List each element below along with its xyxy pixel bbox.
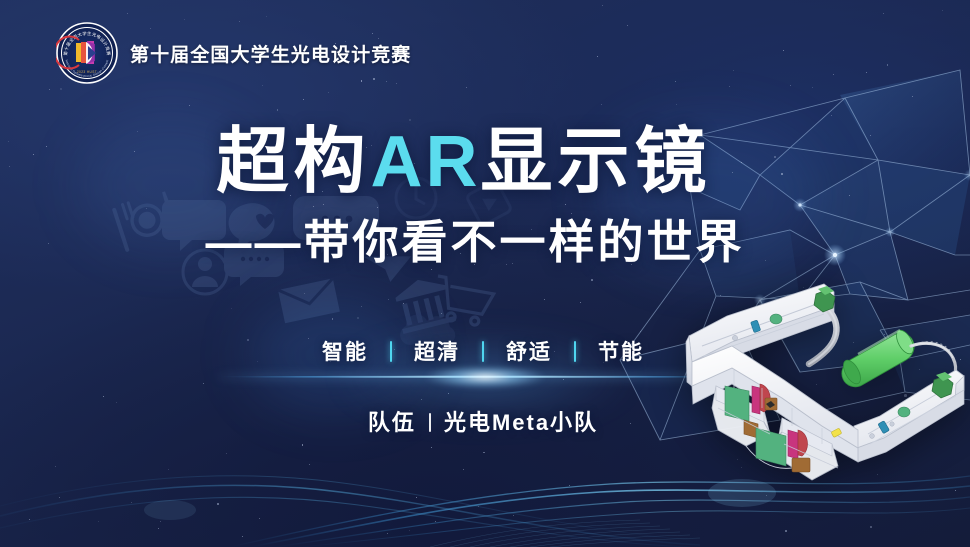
star-dot: [774, 156, 776, 158]
star-dot: [371, 145, 372, 146]
star-dot: [262, 85, 263, 86]
star-dot: [309, 464, 310, 465]
star-dot: [357, 317, 360, 320]
star-dot: [602, 5, 603, 6]
star-dot: [281, 186, 282, 187]
bank-icon: [392, 273, 456, 334]
header-title: 第十届全国大学生光电设计竞赛: [130, 40, 411, 67]
main-title-accent-ar: AR: [371, 122, 481, 202]
star-dot: [328, 92, 329, 93]
chat-bubble-dots-icon: [224, 243, 284, 286]
heart-chat-icon: [229, 203, 275, 251]
clock-icon: [396, 178, 436, 218]
star-dot: [361, 306, 362, 307]
star-dot: [675, 81, 676, 82]
star-dot: [580, 302, 581, 303]
star-dot: [134, 151, 135, 152]
star-dot: [463, 469, 464, 470]
star-dot: [790, 85, 791, 86]
star-dot: [55, 466, 56, 467]
envelope-icon: [278, 278, 340, 323]
star-dot: [569, 485, 570, 486]
star-dot: [435, 521, 436, 522]
star-dot: [591, 279, 593, 281]
star-dot: [483, 452, 485, 454]
star-dot: [729, 86, 730, 87]
star-dot: [168, 469, 169, 470]
star-dot: [431, 269, 432, 270]
star-dot: [46, 146, 47, 147]
star-dot: [231, 308, 232, 309]
star-dot: [409, 530, 410, 531]
star-dot: [597, 56, 599, 58]
star-dot: [512, 263, 513, 264]
star-dot: [831, 115, 832, 116]
star-dot: [732, 172, 733, 173]
star-dot: [266, 16, 268, 18]
feature-tag-0[interactable]: 智能: [300, 336, 390, 366]
star-dot: [48, 243, 49, 244]
star-dot: [116, 402, 117, 403]
feature-tag-2[interactable]: 舒适: [484, 336, 574, 366]
glasses-front-frame: [692, 346, 858, 480]
star-dot: [414, 163, 415, 164]
ar-glasses-illustration: [672, 258, 970, 498]
star-dot: [98, 521, 99, 522]
star-dot: [785, 530, 787, 532]
main-title-suffix: 显示镜: [481, 122, 712, 202]
star-dot: [849, 195, 850, 196]
star-dot: [733, 70, 734, 71]
star-dot: [203, 383, 204, 384]
star-dot: [313, 206, 314, 207]
star-dot: [137, 131, 138, 132]
star-dot: [257, 361, 258, 362]
paper-plane-icon: [359, 245, 411, 285]
star-dot: [387, 533, 388, 534]
star-dot: [416, 497, 417, 498]
star-dot: [421, 399, 422, 400]
star-dot: [565, 204, 566, 205]
star-dot: [323, 204, 324, 205]
star-dot: [741, 162, 742, 163]
star-dot: [33, 154, 34, 155]
star-dot: [544, 299, 545, 300]
star-dot: [466, 87, 467, 88]
star-dot: [127, 13, 128, 14]
star-dot: [866, 72, 867, 73]
star-dot: [259, 518, 260, 519]
star-dot: [448, 393, 449, 394]
star-dot: [247, 339, 249, 341]
star-dot: [9, 166, 10, 167]
poster-canvas: 第十届全国大学生光电设计竞赛 National Optoelectronic D…: [0, 0, 970, 547]
main-title: 超构AR显示镜: [0, 126, 949, 198]
star-dot: [630, 423, 631, 424]
star-dot: [912, 96, 913, 97]
star-dot: [571, 213, 572, 214]
team-label: 队伍: [368, 410, 416, 435]
glasses-battery-cylinder: [840, 327, 917, 386]
star-dot: [601, 104, 602, 105]
star-dot: [781, 173, 783, 175]
star-dot: [676, 104, 677, 105]
star-dot: [146, 208, 147, 209]
star-dot: [60, 88, 63, 91]
star-dot: [388, 299, 389, 300]
star-dot: [366, 147, 367, 148]
star-dot: [339, 237, 340, 238]
star-dot: [366, 236, 367, 237]
svg-text:2023 HUST: 2023 HUST: [77, 70, 97, 74]
star-dot: [631, 264, 632, 265]
star-dot: [563, 379, 564, 380]
team-separator: [429, 413, 431, 432]
star-dot: [812, 87, 813, 88]
star-dot: [474, 417, 475, 418]
star-dot: [431, 447, 432, 448]
user-avatar-icon: [183, 250, 227, 294]
star-dot: [870, 526, 872, 528]
star-dot: [158, 528, 159, 529]
star-dot: [531, 229, 532, 230]
star-dot: [287, 184, 288, 185]
star-dot: [332, 318, 334, 320]
feature-tag-3[interactable]: 节能: [576, 336, 666, 366]
star-dot: [640, 331, 641, 332]
star-dot: [870, 135, 871, 136]
chat-bubble-icon: [162, 200, 226, 251]
main-title-prefix: 超构: [216, 122, 370, 202]
team-name: 光电Meta小队: [444, 410, 598, 435]
star-dot: [513, 515, 514, 516]
star-dot: [277, 109, 279, 111]
feature-tag-1[interactable]: 超清: [392, 336, 482, 366]
star-dot: [208, 246, 210, 248]
star-dot: [403, 303, 404, 304]
star-dot: [387, 254, 388, 255]
star-dot: [29, 519, 30, 520]
star-dot: [833, 74, 834, 75]
star-dot: [103, 396, 104, 397]
star-dot: [377, 207, 378, 208]
header-bar: 第十届全国大学生光电设计竞赛 National Optoelectronic D…: [56, 22, 411, 84]
star-dot: [478, 506, 479, 507]
star-dot: [887, 64, 889, 66]
shopping-cart-icon: [431, 276, 495, 327]
star-dot: [460, 253, 461, 254]
star-dot: [942, 10, 943, 11]
star-dot: [160, 521, 161, 522]
star-dot: [322, 191, 323, 192]
star-dot: [409, 119, 411, 121]
star-dot: [242, 536, 243, 537]
star-dot: [49, 89, 50, 90]
star-dot: [441, 313, 442, 314]
glasses-right-temple: [854, 370, 964, 462]
star-dot: [474, 264, 475, 265]
star-dot: [8, 141, 9, 142]
star-dot: [627, 25, 628, 26]
star-dot: [257, 245, 258, 246]
star-dot: [189, 105, 190, 106]
star-dot: [303, 99, 304, 100]
chat-bubble-dots-icon: [293, 196, 379, 253]
star-dot: [217, 503, 220, 506]
star-dot: [302, 444, 304, 446]
star-dot: [131, 502, 132, 503]
star-dot: [290, 195, 291, 196]
star-dot: [304, 293, 305, 294]
star-dot: [184, 19, 185, 20]
star-dot: [226, 453, 227, 454]
competition-emblem-logo: 第十届全国大学生光电设计竞赛 National Optoelectronic D…: [56, 22, 118, 84]
star-dot: [506, 264, 507, 265]
star-dot: [783, 50, 784, 51]
star-dot: [59, 497, 60, 498]
play-icon: [466, 180, 512, 226]
cutlery-plate-icon: [111, 189, 180, 252]
star-dot: [883, 13, 884, 14]
